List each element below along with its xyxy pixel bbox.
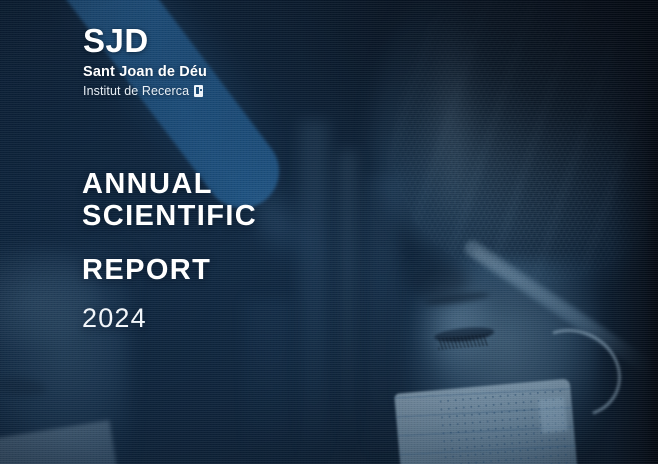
title-line-scientific: SCIENTIFIC: [82, 200, 257, 232]
report-cover: SJD Sant Joan de Déu Institut de Recerca…: [0, 0, 658, 464]
logo-organization-name: Sant Joan de Déu: [83, 65, 207, 80]
cover-title-block: ANNUAL SCIENTIFIC REPORT 2024: [82, 168, 257, 332]
cover-content: SJD Sant Joan de Déu Institut de Recerca…: [0, 0, 658, 464]
building-icon: [194, 85, 203, 97]
logo-unit-row: Institut de Recerca: [83, 85, 207, 98]
organization-logo: SJD Sant Joan de Déu Institut de Recerca: [83, 24, 207, 97]
title-line-annual: ANNUAL: [82, 168, 257, 200]
logo-acronym: SJD: [83, 24, 207, 57]
title-line-report: REPORT: [82, 254, 257, 286]
report-year: 2024: [82, 305, 257, 332]
logo-unit-label: Institut de Recerca: [83, 85, 189, 98]
